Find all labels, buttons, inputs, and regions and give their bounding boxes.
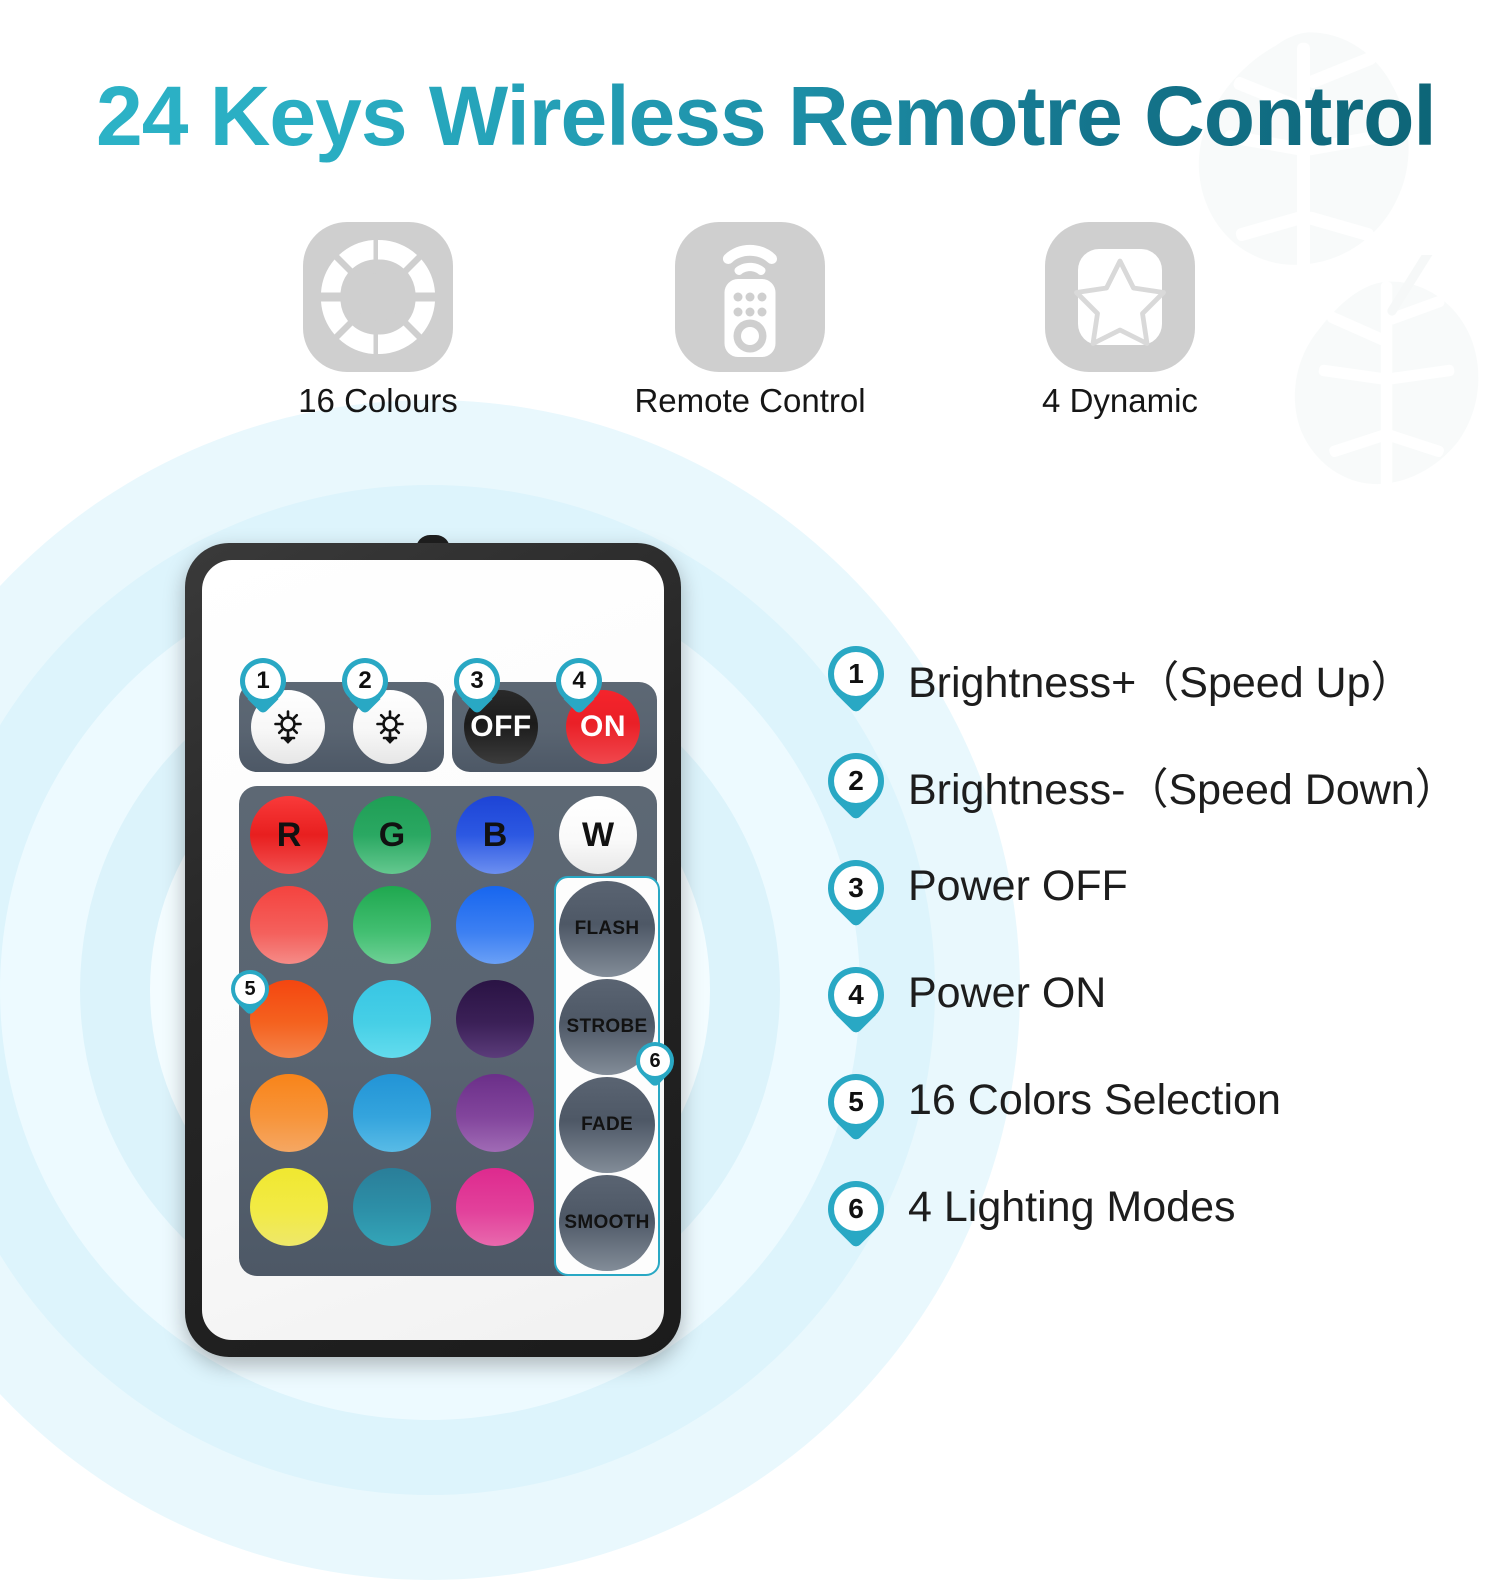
mode-button-flash[interactable]: FLASH	[559, 881, 655, 977]
callout-marker-2: 2	[342, 658, 388, 716]
color-button-w[interactable]: W	[559, 796, 637, 874]
callout-marker-4: 4	[556, 658, 602, 716]
feature-highlights: 16 Colours Remote	[0, 222, 1500, 432]
color-swatch[interactable]	[456, 1168, 534, 1246]
legend-item: 4 Power ON	[828, 961, 1488, 1068]
legend-label: Brightness+（Speed Up）	[908, 648, 1414, 710]
color-swatch[interactable]	[456, 1074, 534, 1152]
remote-control-icon	[675, 222, 825, 372]
legend-marker-5: 5	[828, 1074, 884, 1144]
feature-16-colours: 16 Colours	[228, 222, 528, 420]
color-button-r[interactable]: R	[250, 796, 328, 874]
color-swatch[interactable]	[353, 1074, 431, 1152]
legend-label: Power ON	[908, 969, 1106, 1018]
color-swatch[interactable]	[456, 886, 534, 964]
legend-marker-1: 1	[828, 646, 884, 716]
legend-item: 2 Brightness-（Speed Down）	[828, 747, 1488, 854]
color-swatch[interactable]	[353, 1168, 431, 1246]
feature-label: Remote Control	[600, 382, 900, 420]
color-swatch[interactable]	[250, 1074, 328, 1152]
mode-button-fade[interactable]: FADE	[559, 1077, 655, 1173]
callout-marker-1: 1	[240, 658, 286, 716]
mode-button-smooth[interactable]: SMOOTH	[559, 1175, 655, 1271]
legend-item: 6 4 Lighting Modes	[828, 1175, 1488, 1282]
legend-label: Brightness-（Speed Down）	[908, 755, 1458, 817]
feature-label: 4 Dynamic	[970, 382, 1270, 420]
callout-marker-3: 3	[454, 658, 500, 716]
legend-label: Power OFF	[908, 862, 1128, 911]
infographic-canvas: 24 Keys Wireless Remotre Control	[0, 0, 1500, 1500]
remote-face: OFF ON R G B W	[202, 560, 664, 1340]
color-swatch[interactable]	[250, 886, 328, 964]
callout-marker-5: 5	[231, 970, 269, 1018]
legend-marker-2: 2	[828, 753, 884, 823]
feature-4-dynamic: 4 Dynamic	[970, 222, 1270, 420]
legend-item: 5 16 Colors Selection	[828, 1068, 1488, 1175]
legend-marker-6: 6	[828, 1181, 884, 1251]
legend-marker-3: 3	[828, 860, 884, 930]
star-icon	[1045, 222, 1195, 372]
page-title: 24 Keys Wireless Remotre Control	[96, 68, 1436, 165]
color-swatch[interactable]	[353, 886, 431, 964]
legend-marker-4: 4	[828, 967, 884, 1037]
color-swatch[interactable]	[456, 980, 534, 1058]
color-swatch[interactable]	[250, 1168, 328, 1246]
color-swatch[interactable]	[353, 980, 431, 1058]
legend-label: 4 Lighting Modes	[908, 1183, 1236, 1232]
feature-label: 16 Colours	[228, 382, 528, 420]
legend-label: 16 Colors Selection	[908, 1076, 1281, 1125]
legend-item: 1 Brightness+（Speed Up）	[828, 640, 1488, 747]
remote-control-device: OFF ON R G B W	[185, 535, 681, 1357]
callout-marker-6: 6	[636, 1042, 674, 1090]
feature-remote-control: Remote Control	[600, 222, 900, 420]
color-wheel-icon	[303, 222, 453, 372]
legend-item: 3 Power OFF	[828, 854, 1488, 961]
legend-list: 1 Brightness+（Speed Up） 2 Brightness-（Sp…	[828, 640, 1488, 1282]
color-button-g[interactable]: G	[353, 796, 431, 874]
color-button-b[interactable]: B	[456, 796, 534, 874]
